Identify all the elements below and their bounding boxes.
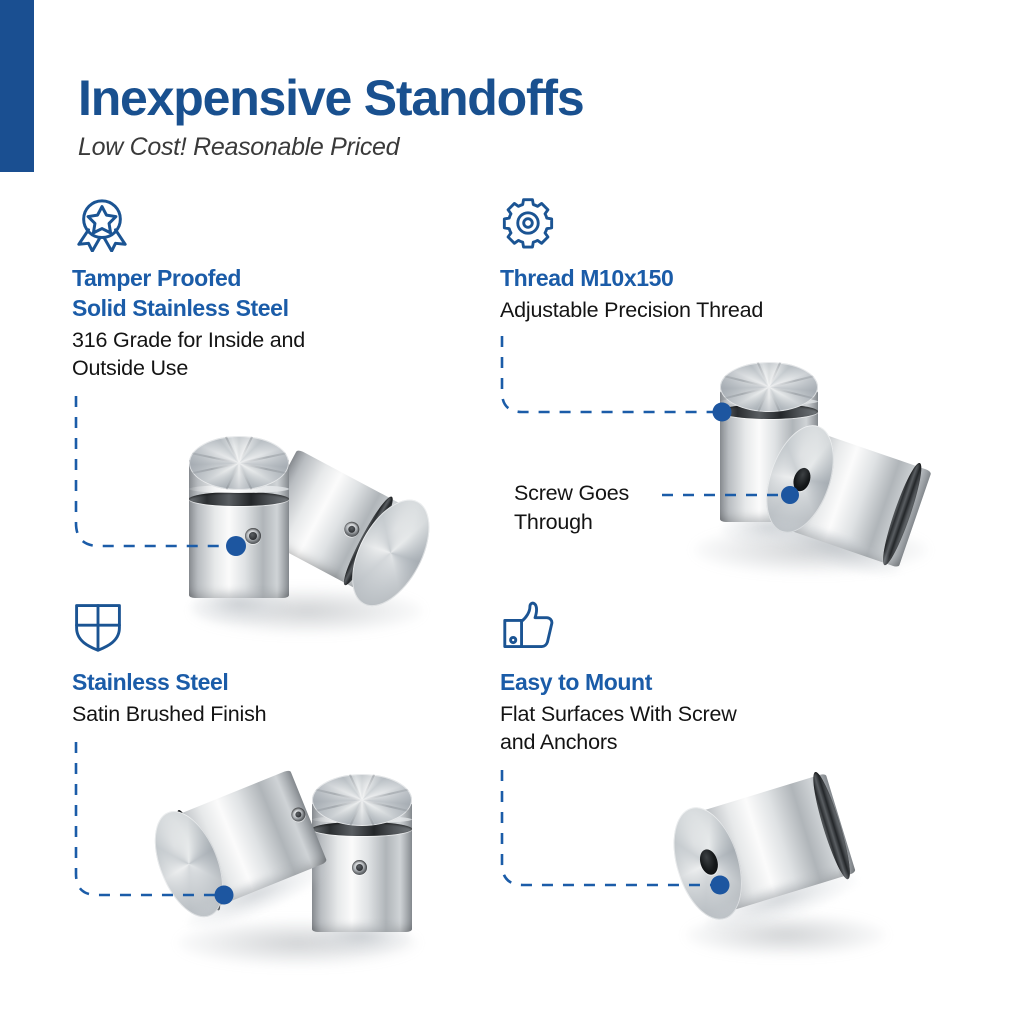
- product-image-thread: [686, 360, 936, 575]
- connector-path-thread: [502, 336, 714, 412]
- header: Inexpensive Standoffs Low Cost! Reasonab…: [78, 72, 878, 162]
- gasket-groove: [189, 492, 289, 506]
- product-image-easy-to-mount: [680, 790, 895, 960]
- standoff-upright: [185, 430, 293, 616]
- feature-body: Satin Brushed Finish: [72, 700, 492, 729]
- feature-heading: Easy to Mount: [500, 668, 920, 698]
- feature-body-line-1: 316 Grade for Inside and: [72, 326, 492, 355]
- feature-heading: Thread M10x150: [500, 264, 920, 294]
- top-cap: [720, 362, 818, 412]
- feature-body-line-2: and Anchors: [500, 728, 920, 757]
- callout-screw-goes-through: Screw Goes Through: [514, 479, 684, 536]
- feature-heading-line-1: Tamper Proofed: [72, 264, 492, 294]
- feature-tamper-proofed: Tamper Proofed Solid Stainless Steel 316…: [72, 196, 492, 383]
- gear-icon: [500, 196, 560, 252]
- feature-heading: Tamper Proofed Solid Stainless Steel: [72, 264, 492, 324]
- callout-line-1: Screw Goes: [514, 479, 684, 508]
- callout-line-2: Through: [514, 508, 684, 537]
- top-cap: [189, 436, 289, 490]
- left-accent-bar: [0, 0, 34, 172]
- feature-heading-line-1: Easy to Mount: [500, 668, 920, 698]
- award-badge-icon: [72, 196, 132, 252]
- infographic-page: Inexpensive Standoffs Low Cost! Reasonab…: [0, 0, 1024, 1024]
- feature-easy-to-mount: Easy to Mount Flat Surfaces With Screw a…: [500, 600, 920, 757]
- product-reflection: [312, 924, 412, 954]
- feature-body-line-1: Adjustable Precision Thread: [500, 296, 920, 325]
- brushed-cross-marks: [189, 436, 289, 490]
- feature-body: Adjustable Precision Thread: [500, 296, 920, 325]
- feature-heading: Stainless Steel: [72, 668, 492, 698]
- product-image-stainless-steel: [168, 768, 428, 968]
- feature-heading-line-1: Thread M10x150: [500, 264, 920, 294]
- feature-body-line-2: Outside Use: [72, 354, 492, 383]
- brushed-cross-marks: [720, 362, 818, 412]
- standoff-tilted: [658, 746, 898, 949]
- page-subtitle: Low Cost! Reasonable Priced: [78, 133, 878, 162]
- feature-heading-line-2: Solid Stainless Steel: [72, 294, 492, 324]
- shield-icon: [72, 600, 132, 656]
- feature-body-line-1: Satin Brushed Finish: [72, 700, 492, 729]
- feature-body-line-1: Flat Surfaces With Screw: [500, 700, 920, 729]
- feature-stainless-steel: Stainless Steel Satin Brushed Finish: [72, 600, 492, 728]
- set-screw: [245, 528, 261, 544]
- thumbs-up-icon: [500, 600, 560, 656]
- feature-body: 316 Grade for Inside and Outside Use: [72, 326, 492, 383]
- feature-heading-line-1: Stainless Steel: [72, 668, 492, 698]
- feature-body: Flat Surfaces With Screw and Anchors: [500, 700, 920, 757]
- feature-thread: Thread M10x150 Adjustable Precision Thre…: [500, 196, 920, 324]
- page-title: Inexpensive Standoffs: [78, 72, 878, 125]
